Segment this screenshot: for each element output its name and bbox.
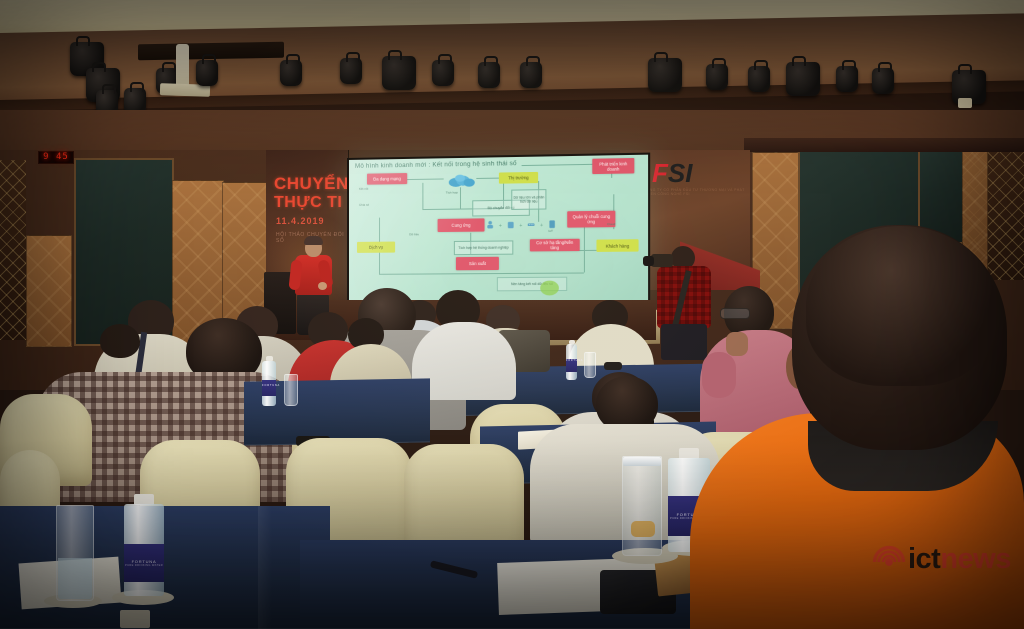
- banner-date: 11.4.2019: [276, 216, 325, 226]
- slide-connector: [476, 178, 499, 179]
- ictnews-swirl-icon: [872, 545, 906, 579]
- wall-lattice-panel: [0, 160, 26, 340]
- slide-caption: Cloud: [607, 223, 615, 227]
- glass-water: [58, 558, 92, 599]
- stage-light-icon: [432, 60, 454, 86]
- drinking-glass: [584, 352, 596, 378]
- slide-caption: Tích hợp: [446, 191, 458, 195]
- slide-connector: [460, 187, 461, 209]
- tablecloth-fold: [258, 506, 272, 629]
- cloud-icon: [446, 172, 477, 188]
- water-bottle: FORTUNA: [566, 340, 577, 380]
- leaf-icon: [538, 279, 561, 297]
- fsi-tagline: CÔNG TY CỔ PHẦN ĐẦU TƯ THƯƠNG MẠI VÀ PHÁ…: [644, 188, 750, 196]
- stage-light-icon: [706, 64, 728, 90]
- plus-icon: +: [499, 223, 502, 229]
- fsi-logo-si: SI: [668, 158, 693, 188]
- stage-light-icon: [748, 66, 770, 92]
- bottle-brand: FORTUNA: [262, 384, 276, 387]
- plus-icon: +: [540, 223, 543, 229]
- bottle-label: FORTUNA: [566, 359, 577, 372]
- led-clock-text: 9 45: [43, 153, 69, 162]
- ictnews-wordmark: ictnews: [908, 543, 1011, 576]
- fsi-logo-f: F: [652, 158, 668, 188]
- stage-light-icon: [520, 62, 542, 88]
- slide-box: Tích hợp hệ thống doanh nghiệp: [454, 240, 513, 255]
- slide-caption: IoT: [548, 230, 553, 234]
- wall-wood-panel: [26, 235, 72, 347]
- slide-device-row: + + +: [487, 220, 556, 230]
- slide-caption: Chia sẻ: [359, 203, 393, 207]
- projected-slide: Mô hình kinh doanh mới : Kết nối trong h…: [349, 155, 648, 305]
- slide-node-green: Khách hàng: [596, 239, 638, 252]
- small-dish: [604, 362, 622, 370]
- mobile-icon: [548, 220, 555, 229]
- led-clock-display: 9 45: [38, 151, 74, 164]
- bottle-label: FORTUNA PURE DRINKING WATER: [124, 544, 164, 582]
- database-icon: [507, 220, 514, 229]
- slide-node-red: Cơ sở hạ tầng/Nền tảng: [530, 239, 580, 252]
- slide-box: Dữ liệu lớn và phân tích dữ liệu: [511, 189, 546, 210]
- glass-rim: [623, 457, 661, 466]
- slide-connector: [584, 225, 585, 272]
- stage-light-icon: [872, 68, 894, 94]
- banner-title-line2: THỰC TI: [274, 194, 342, 212]
- slide-node-red: Sản xuất: [456, 257, 499, 270]
- network-icon: [528, 220, 535, 229]
- slide-connector: [422, 183, 423, 209]
- slide-node-green: Thị trường: [499, 172, 538, 184]
- slide-node-red: Đa dạng mạng: [367, 173, 407, 185]
- paper-card: [120, 610, 150, 628]
- speaker-hair: [304, 236, 323, 245]
- stage-light-icon: [786, 62, 820, 96]
- projection-screen: Mô hình kinh doanh mới : Kết nối trong h…: [347, 153, 650, 307]
- stage-light-icon: [196, 60, 218, 86]
- banner-title-line1: CHUYỂN: [274, 174, 349, 194]
- water-bottle: FORTUNA: [262, 356, 276, 406]
- slide-node-red: Phát triển kinh doanh: [592, 158, 634, 174]
- stage-light-icon: [648, 58, 682, 92]
- drinking-glass: [622, 456, 662, 556]
- speaker-hand: [318, 282, 327, 290]
- stage-light-icon: [836, 66, 858, 92]
- slide-node-green: Dịch vụ: [357, 242, 395, 253]
- slide-caption: Dữ liệu: [409, 233, 419, 237]
- stage-light-icon: [280, 60, 302, 86]
- glass-logo: [631, 521, 655, 537]
- water-bottle: FORTUNA PURE DRINKING WATER: [124, 494, 164, 596]
- slide-node-red: Cung ứng: [438, 218, 485, 232]
- audience-head: [100, 324, 140, 358]
- bottle-label: FORTUNA: [262, 380, 276, 396]
- stage-light-icon: [382, 56, 416, 90]
- camera-icon: [651, 254, 673, 267]
- fsi-logo: FSI: [652, 158, 692, 189]
- slide-caption: Kết nối: [359, 187, 393, 191]
- plus-icon: +: [519, 223, 522, 229]
- slide-title: Mô hình kinh doanh mới : Kết nối trong h…: [355, 160, 517, 170]
- stage-light-icon: [340, 58, 362, 84]
- drinking-glass: [284, 374, 298, 406]
- hanging-tube-light: [176, 44, 189, 88]
- watermark-ict: ict: [908, 543, 940, 575]
- bottle-brand: FORTUNA: [566, 359, 577, 362]
- conference-photo: 9 45 CHUYỂN THỰC TI 11.4.2019 HỘI THẢO C…: [0, 0, 1024, 629]
- stage-light-icon: [478, 62, 500, 88]
- light-clamp: [958, 98, 972, 108]
- foreground-person-2-head: [806, 226, 996, 386]
- watermark-news: news: [940, 543, 1011, 575]
- bottle-sub-label: PURE DRINKING WATER: [124, 564, 164, 567]
- wall-cornice: [744, 138, 1024, 152]
- camera-lens-icon: [643, 256, 654, 266]
- server-icon: [487, 220, 494, 229]
- drinking-glass: [56, 505, 94, 601]
- slide-connector: [379, 272, 584, 274]
